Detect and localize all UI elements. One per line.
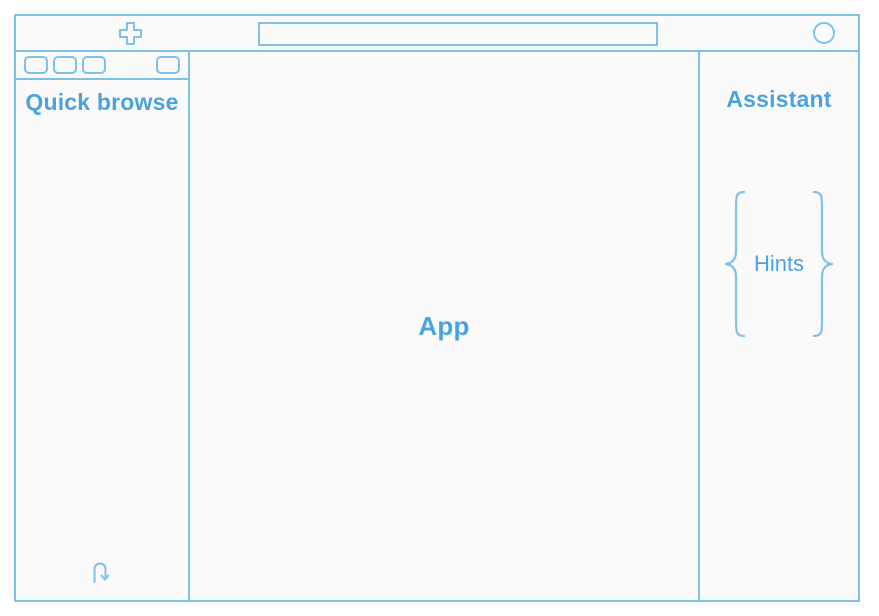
sidebar-footer[interactable] [16, 544, 188, 600]
sidebar-tool-button-2[interactable] [53, 56, 77, 74]
app-label: App [418, 311, 469, 342]
search-input[interactable] [260, 24, 656, 44]
u-turn-arrow-icon [87, 557, 117, 587]
sidebar-panel: Quick browse [16, 52, 190, 600]
header-bar [16, 16, 858, 52]
avatar-button[interactable] [802, 16, 846, 50]
left-brace-icon [722, 189, 748, 339]
hints-block: Hints [700, 184, 858, 344]
app-canvas: App [190, 52, 698, 600]
search-field[interactable] [258, 22, 658, 46]
hints-label: Hints [748, 251, 810, 277]
assistant-panel: Assistant Hints [698, 52, 858, 600]
add-button[interactable] [100, 16, 160, 50]
sidebar-toolbar [16, 52, 188, 80]
sidebar-tool-button-4[interactable] [156, 56, 180, 74]
assistant-title: Assistant [700, 86, 858, 113]
plus-icon [118, 21, 143, 46]
avatar-circle-icon [813, 22, 835, 44]
body-region: Quick browse App Assistant Hints [16, 52, 858, 600]
sidebar-tool-button-3[interactable] [82, 56, 106, 74]
sidebar-title: Quick browse [16, 88, 188, 117]
sidebar-tool-button-1[interactable] [24, 56, 48, 74]
right-brace-icon [810, 189, 836, 339]
wireframe-window: Quick browse App Assistant Hints [14, 14, 860, 602]
